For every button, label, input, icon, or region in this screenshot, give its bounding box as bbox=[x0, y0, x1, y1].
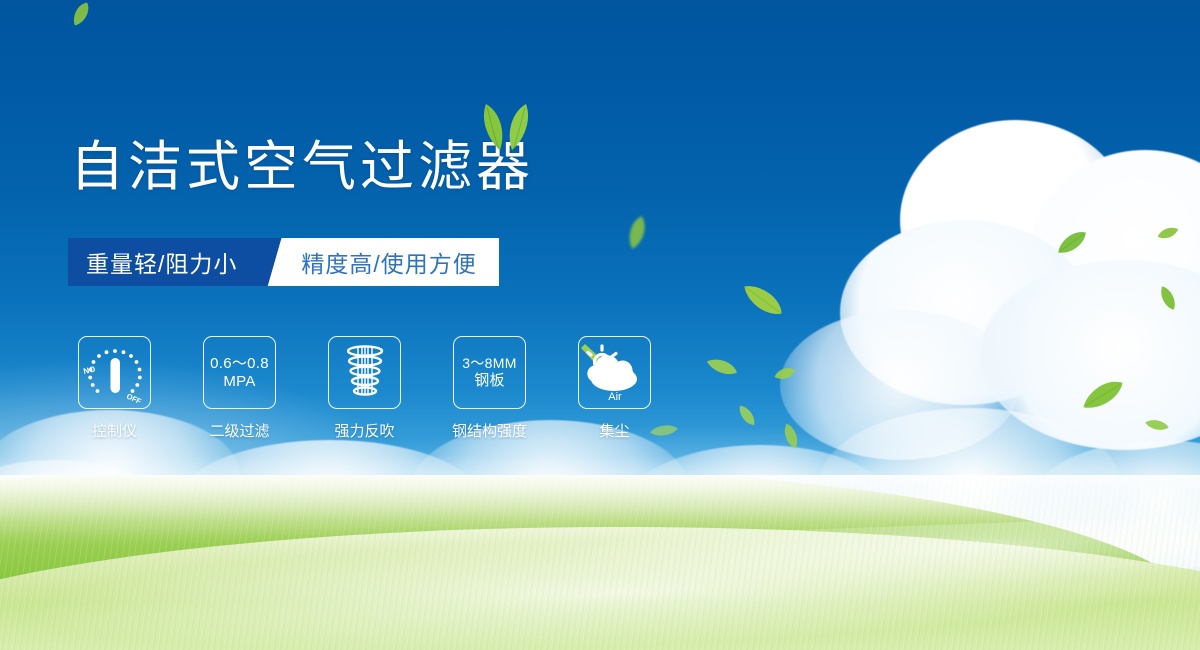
feature-icon-box: 3～8MM 钢板 bbox=[453, 336, 526, 409]
product-hero-banner: 自洁式空气过滤器 重量轻/阻力小 精度高/使用方便 bbox=[0, 0, 1200, 650]
field-haze bbox=[0, 475, 1200, 545]
floating-leaf-icon bbox=[1054, 226, 1090, 258]
floating-leaf-icon bbox=[625, 214, 649, 251]
floating-leaf-icon bbox=[1078, 374, 1128, 415]
feature-icon-box: NO OFF bbox=[78, 336, 151, 409]
feature-icon-text-line1: 3～8MM bbox=[462, 355, 516, 372]
feature-item: 3～8MM 钢板 钢结构强度 bbox=[453, 336, 526, 441]
feature-label: 控制仪 bbox=[92, 420, 137, 441]
subtitle-right: 精度高/使用方便 bbox=[289, 238, 498, 286]
floating-leaf-icon bbox=[705, 355, 740, 379]
floating-leaf-icon bbox=[649, 423, 678, 438]
feature-label: 强力反吹 bbox=[334, 420, 394, 441]
feature-icon-text-line2: MPA bbox=[223, 373, 255, 391]
dial-gauge-icon: NO OFF bbox=[82, 343, 148, 403]
floating-leaf-icon bbox=[739, 278, 788, 321]
feature-item: 0.6～0.8 MPA 二级过滤 bbox=[203, 336, 276, 441]
feature-icon-box: 0.6～0.8 MPA bbox=[203, 336, 276, 409]
svg-text:NO: NO bbox=[82, 364, 96, 375]
floating-leaf-icon bbox=[1156, 225, 1180, 242]
floating-leaf-icon bbox=[735, 403, 758, 429]
feature-label: 集尘 bbox=[599, 420, 629, 441]
grass-field bbox=[0, 475, 1200, 650]
blowback-spiral-icon bbox=[340, 344, 390, 402]
feature-label: 二级过滤 bbox=[209, 420, 269, 441]
cloud-air-icon: Air bbox=[581, 342, 649, 404]
floating-leaf-icon bbox=[1144, 418, 1170, 433]
floating-leaf-icon bbox=[70, 0, 93, 28]
feature-list: NO OFF 控制仪 0.6～0.8 MPA 二级过滤 bbox=[78, 336, 651, 441]
svg-text:OFF: OFF bbox=[125, 391, 143, 402]
sprout-leaves-icon bbox=[470, 100, 542, 155]
page-title: 自洁式空气过滤器 bbox=[70, 138, 534, 196]
feature-icon-box bbox=[328, 336, 401, 409]
floating-leaf-icon bbox=[773, 365, 797, 382]
subtitle-divider bbox=[263, 238, 289, 286]
cloud-air-label: Air bbox=[608, 391, 622, 403]
cumulus-cloud-right bbox=[780, 110, 1200, 440]
feature-item: 强力反吹 bbox=[328, 336, 401, 441]
headline-block: 自洁式空气过滤器 bbox=[70, 138, 534, 196]
subtitle-bar: 重量轻/阻力小 精度高/使用方便 bbox=[68, 238, 499, 286]
feature-icon-box: Air bbox=[578, 336, 651, 409]
floating-leaf-icon bbox=[1157, 284, 1179, 313]
feature-icon-text-line1: 0.6～0.8 bbox=[210, 355, 269, 373]
feature-label: 钢结构强度 bbox=[452, 420, 527, 441]
feature-item: Air 集尘 bbox=[578, 336, 651, 441]
feature-item: NO OFF 控制仪 bbox=[78, 336, 151, 441]
feature-icon-text-line2: 钢板 bbox=[474, 372, 505, 390]
floating-leaf-icon bbox=[781, 422, 801, 451]
subtitle-left: 重量轻/阻力小 bbox=[68, 238, 263, 286]
